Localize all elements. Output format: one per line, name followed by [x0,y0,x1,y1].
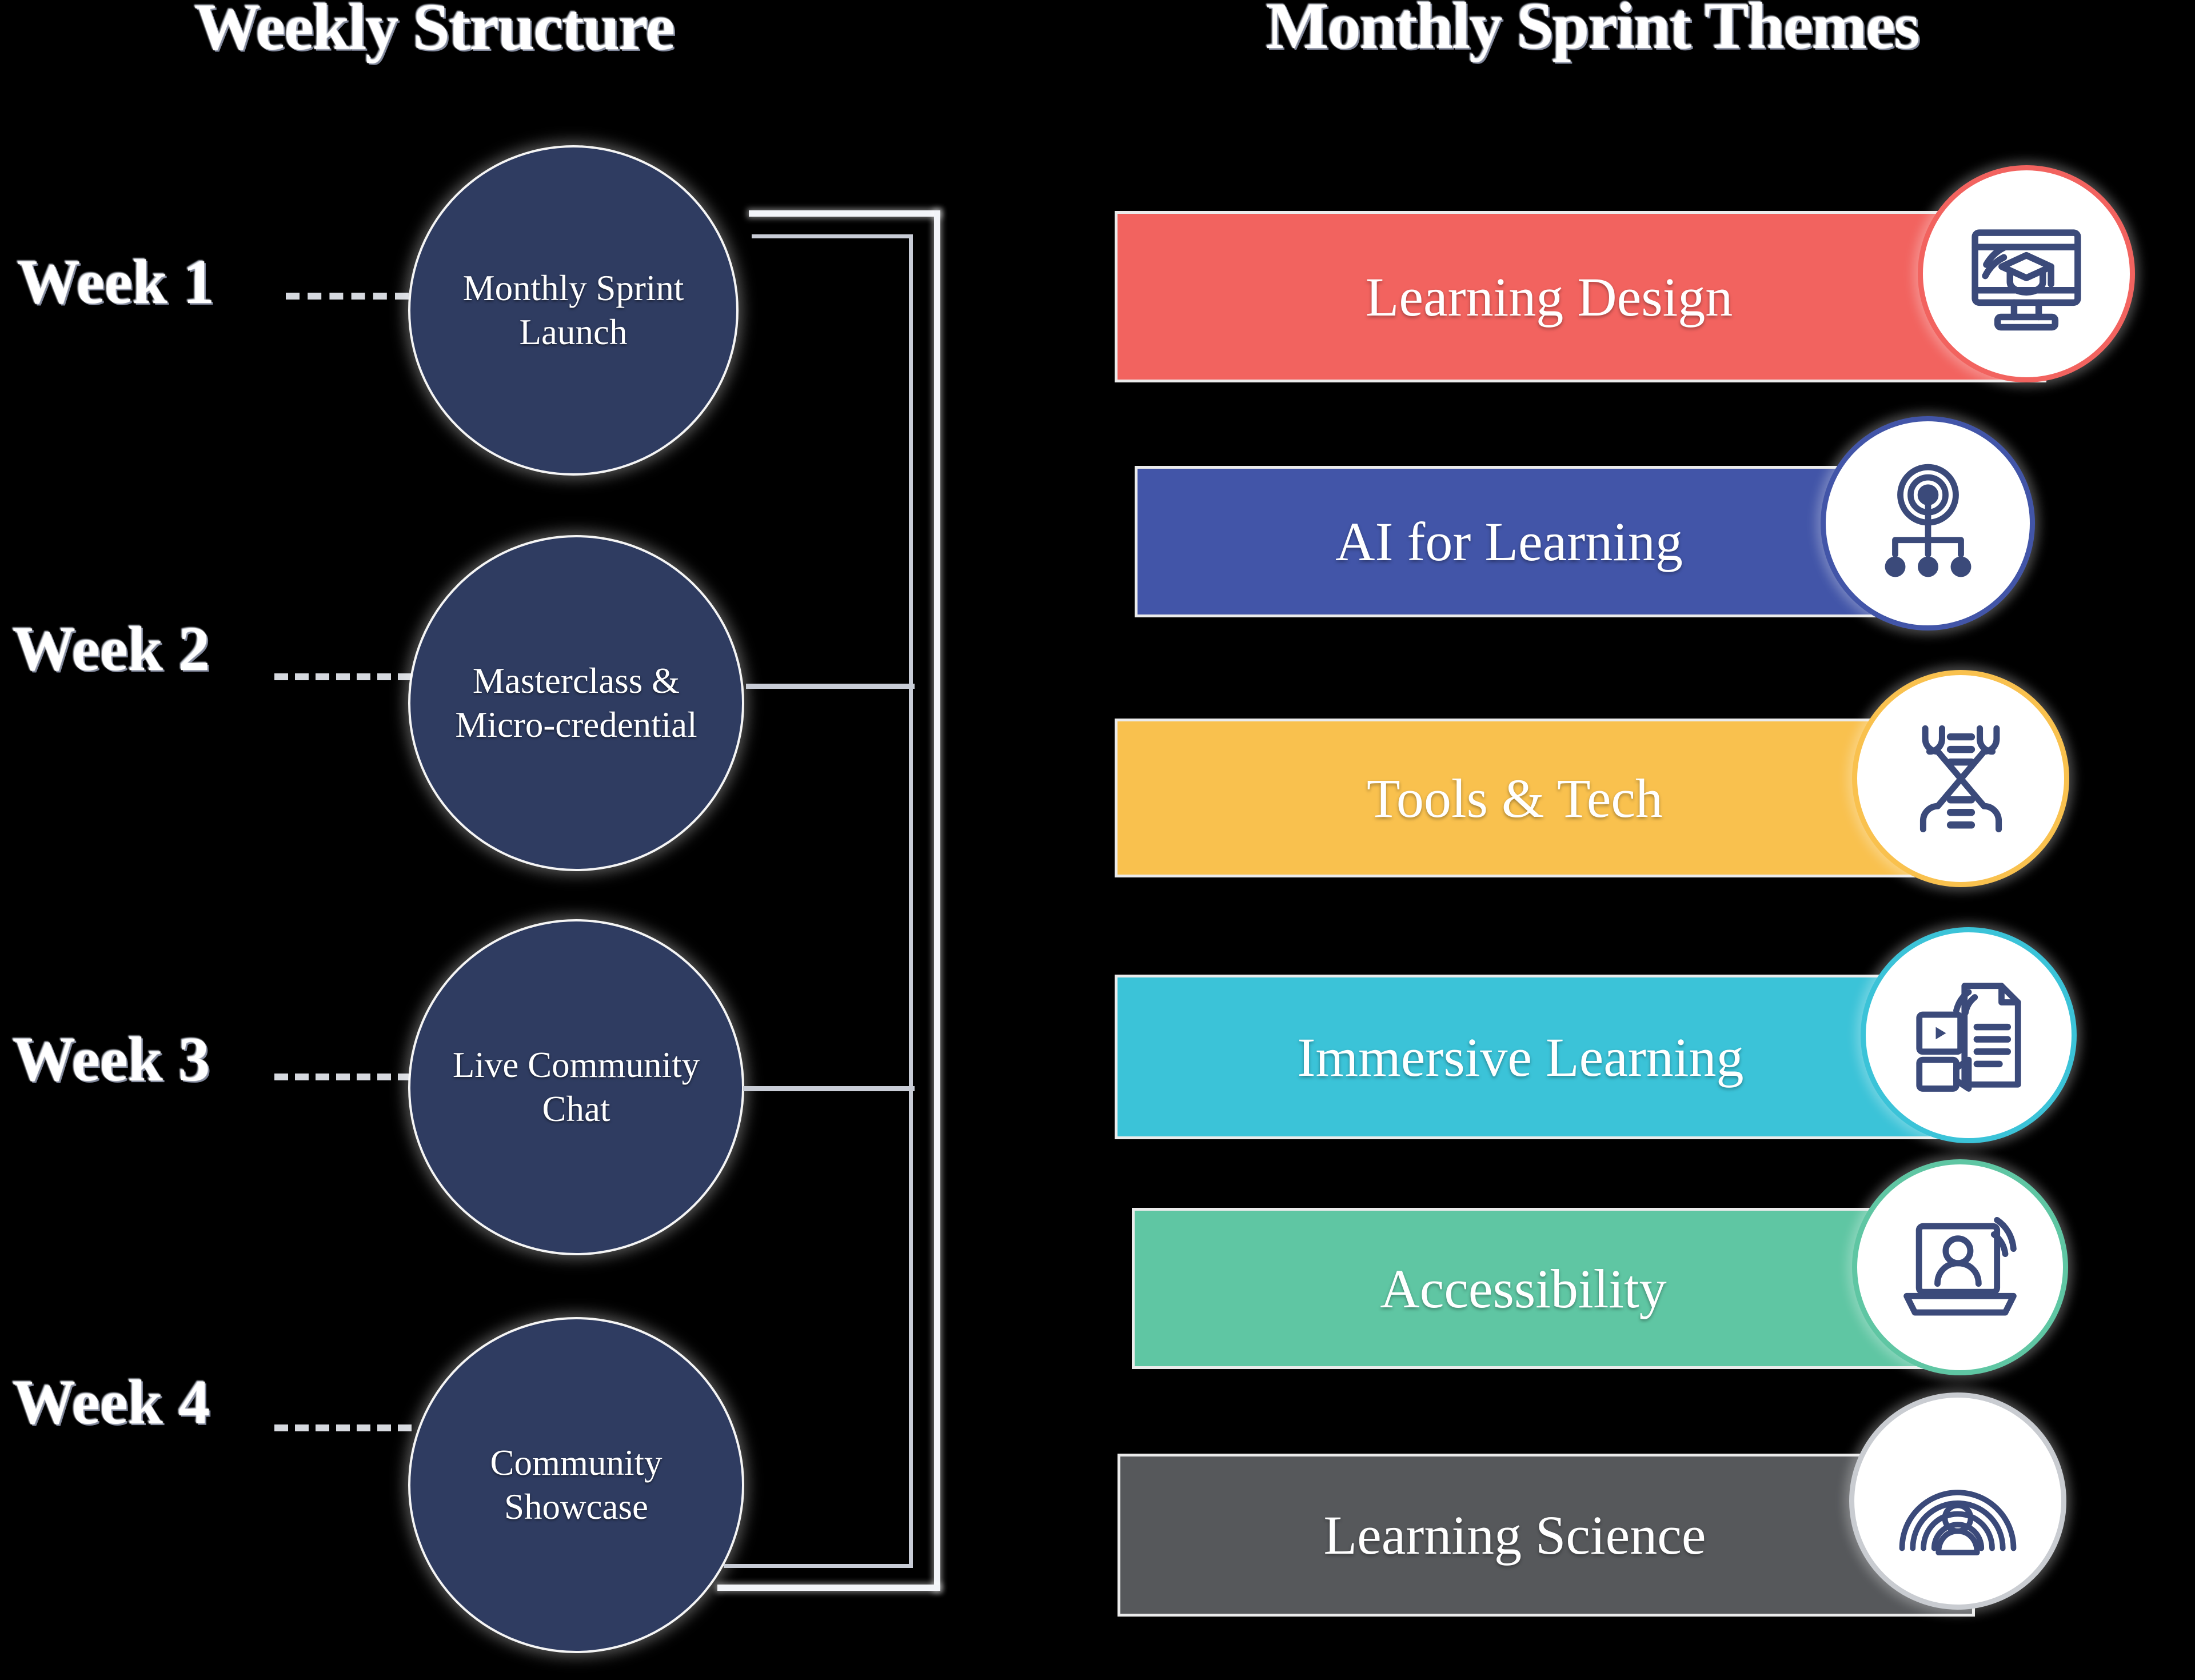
bracket-inner-top-arm [752,234,913,238]
week-label-1: Week 1 [17,246,214,318]
theme-label-learning-science: Learning Science [1324,1503,1706,1567]
week-node-4-label: Community Showcase [430,1441,723,1529]
bracket-bottom-arm [717,1585,940,1591]
theme-bar-tools-tech[interactable]: Tools & Tech [1118,721,1975,875]
theme-icon-ai-for-learning[interactable] [1821,416,2035,631]
week-connector-3 [274,1074,412,1087]
theme-icon-tools-tech[interactable] [1852,670,2069,887]
theme-label-ai-for-learning: AI for Learning [1335,510,1683,573]
week-connector-1 [286,293,409,306]
week-node-3-label: Live Community Chat [430,1043,723,1131]
media-document-video-icon [1903,969,2034,1101]
theme-bar-learning-design[interactable]: Learning Design [1118,214,2044,380]
week-node-2[interactable]: Masterclass & Micro-credential [410,537,742,869]
week-node-4[interactable]: Community Showcase [410,1319,742,1651]
week-connector-2 [274,673,412,687]
week-label-2: Week 2 [13,613,210,685]
week-connector-4 [274,1424,412,1438]
theme-icon-accessibility[interactable] [1852,1159,2068,1375]
person-concentric-waves-icon [1889,1432,2026,1570]
bracket-vertical-outer [934,210,940,1591]
theme-icon-learning-design[interactable] [1918,165,2135,382]
weekly-structure-title: Weekly Structure [194,0,674,66]
monthly-sprint-themes-title: Monthly Sprint Themes [1266,0,1919,65]
theme-label-immersive-learning: Immersive Learning [1297,1025,1743,1089]
bracket-stub-week-2 [746,684,915,689]
week-node-1[interactable]: Monthly Sprint Launch [410,147,736,473]
week-node-2-label: Masterclass & Micro-credential [430,659,723,747]
theme-icon-learning-science[interactable] [1849,1392,2066,1610]
bracket-inner-bottom-arm [724,1564,913,1568]
bracket-stub-week-3 [743,1086,915,1091]
theme-icon-immersive-learning[interactable] [1861,927,2077,1143]
bracket-top-arm [749,210,940,217]
week-label-4: Week 4 [13,1366,210,1439]
week-node-1-label: Monthly Sprint Launch [430,266,717,354]
theme-label-learning-design: Learning Design [1366,265,1733,329]
target-network-icon [1862,458,1994,589]
crossed-wrenches-icon [1894,712,2028,846]
bracket-vertical-inner [909,234,913,1567]
theme-label-tools-tech: Tools & Tech [1367,767,1663,830]
theme-bar-learning-science[interactable]: Learning Science [1120,1456,1972,1614]
theme-label-accessibility: Accessibility [1380,1257,1666,1320]
theme-bar-accessibility[interactable]: Accessibility [1135,1211,1975,1366]
laptop-person-signal-icon [1894,1202,2026,1333]
week-node-3[interactable]: Live Community Chat [410,921,742,1253]
monitor-graduation-cap-icon [1961,208,2092,340]
week-label-3: Week 3 [13,1023,210,1096]
theme-bar-immersive-learning[interactable]: Immersive Learning [1118,977,1986,1136]
